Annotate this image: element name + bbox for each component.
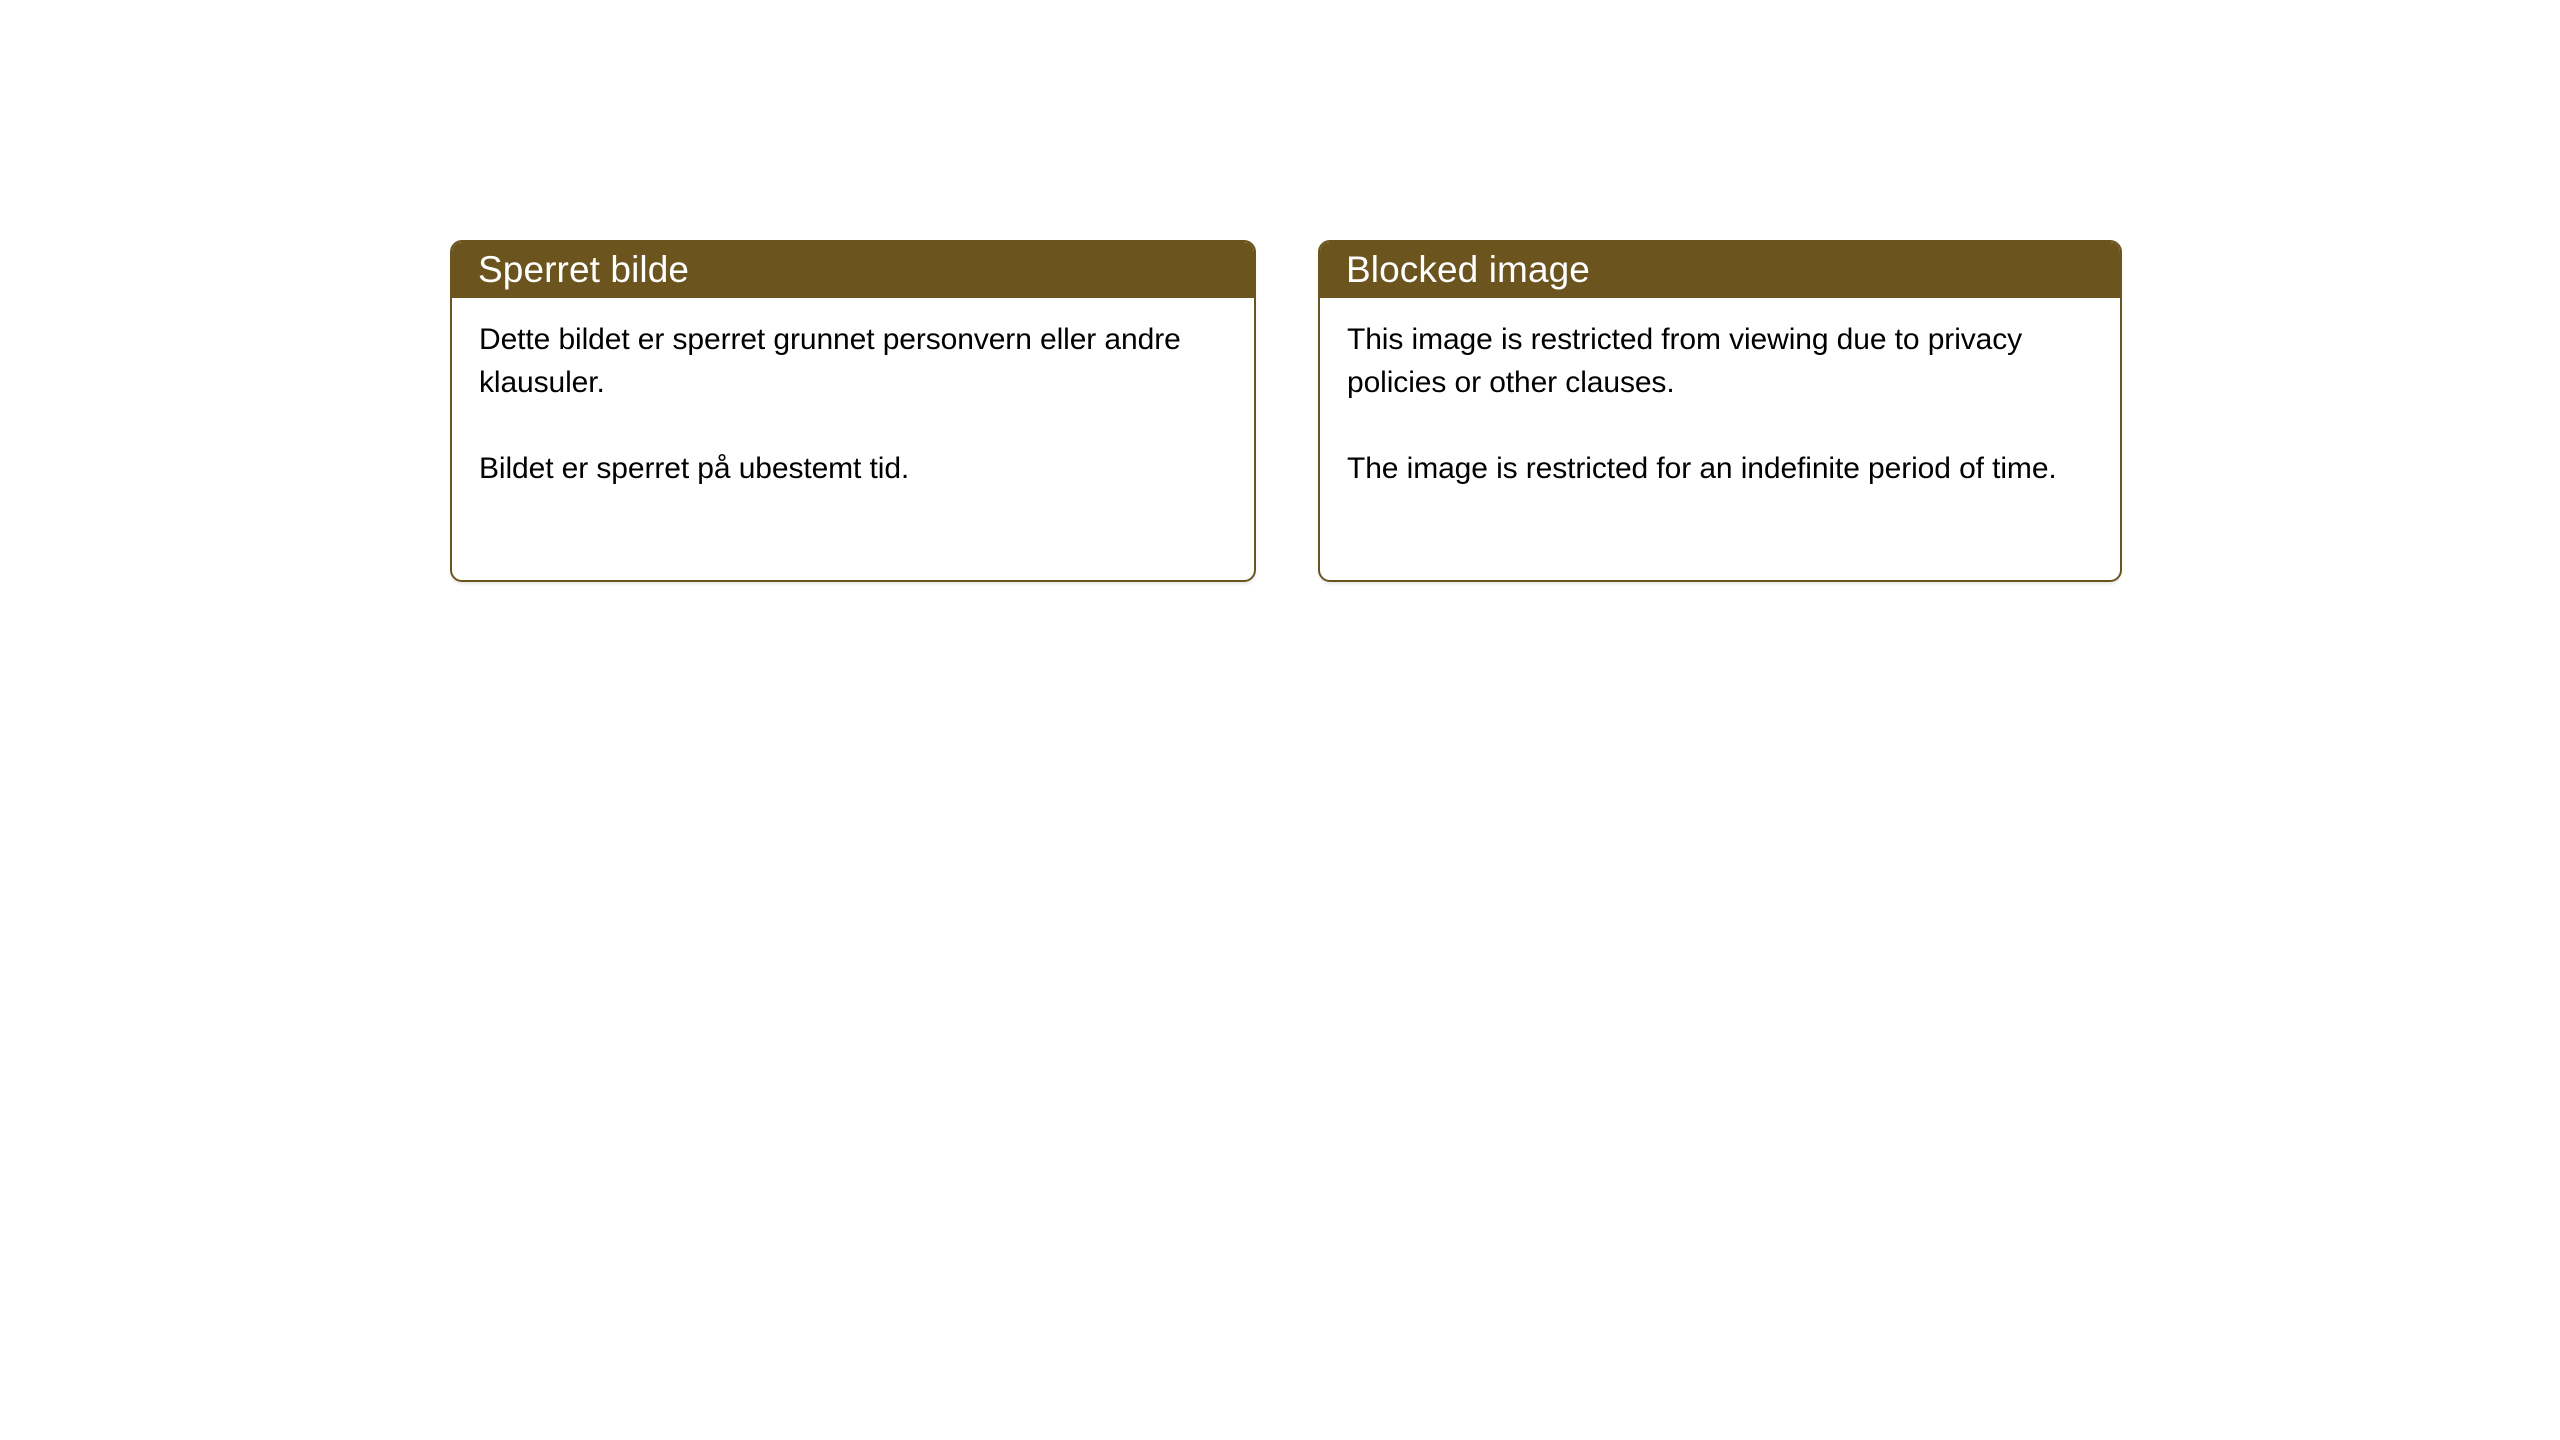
card-title-english: Blocked image [1346,250,1590,290]
card-paragraph-reason-english: This image is restricted from viewing du… [1347,318,2096,404]
page-canvas: Sperret bilde Dette bildet er sperret gr… [0,0,2560,1440]
card-body-norwegian: Dette bildet er sperret grunnet personve… [452,298,1254,490]
card-header-english: Blocked image [1320,242,2120,298]
card-paragraph-reason-norwegian: Dette bildet er sperret grunnet personve… [479,318,1230,404]
card-header-norwegian: Sperret bilde [452,242,1254,298]
card-paragraph-duration-norwegian: Bildet er sperret på ubestemt tid. [479,447,1230,490]
blocked-image-card-english: Blocked image This image is restricted f… [1318,240,2122,582]
card-body-english: This image is restricted from viewing du… [1320,298,2120,490]
card-title-norwegian: Sperret bilde [478,250,689,290]
blocked-image-card-norwegian: Sperret bilde Dette bildet er sperret gr… [450,240,1256,582]
card-paragraph-duration-english: The image is restricted for an indefinit… [1347,447,2096,490]
